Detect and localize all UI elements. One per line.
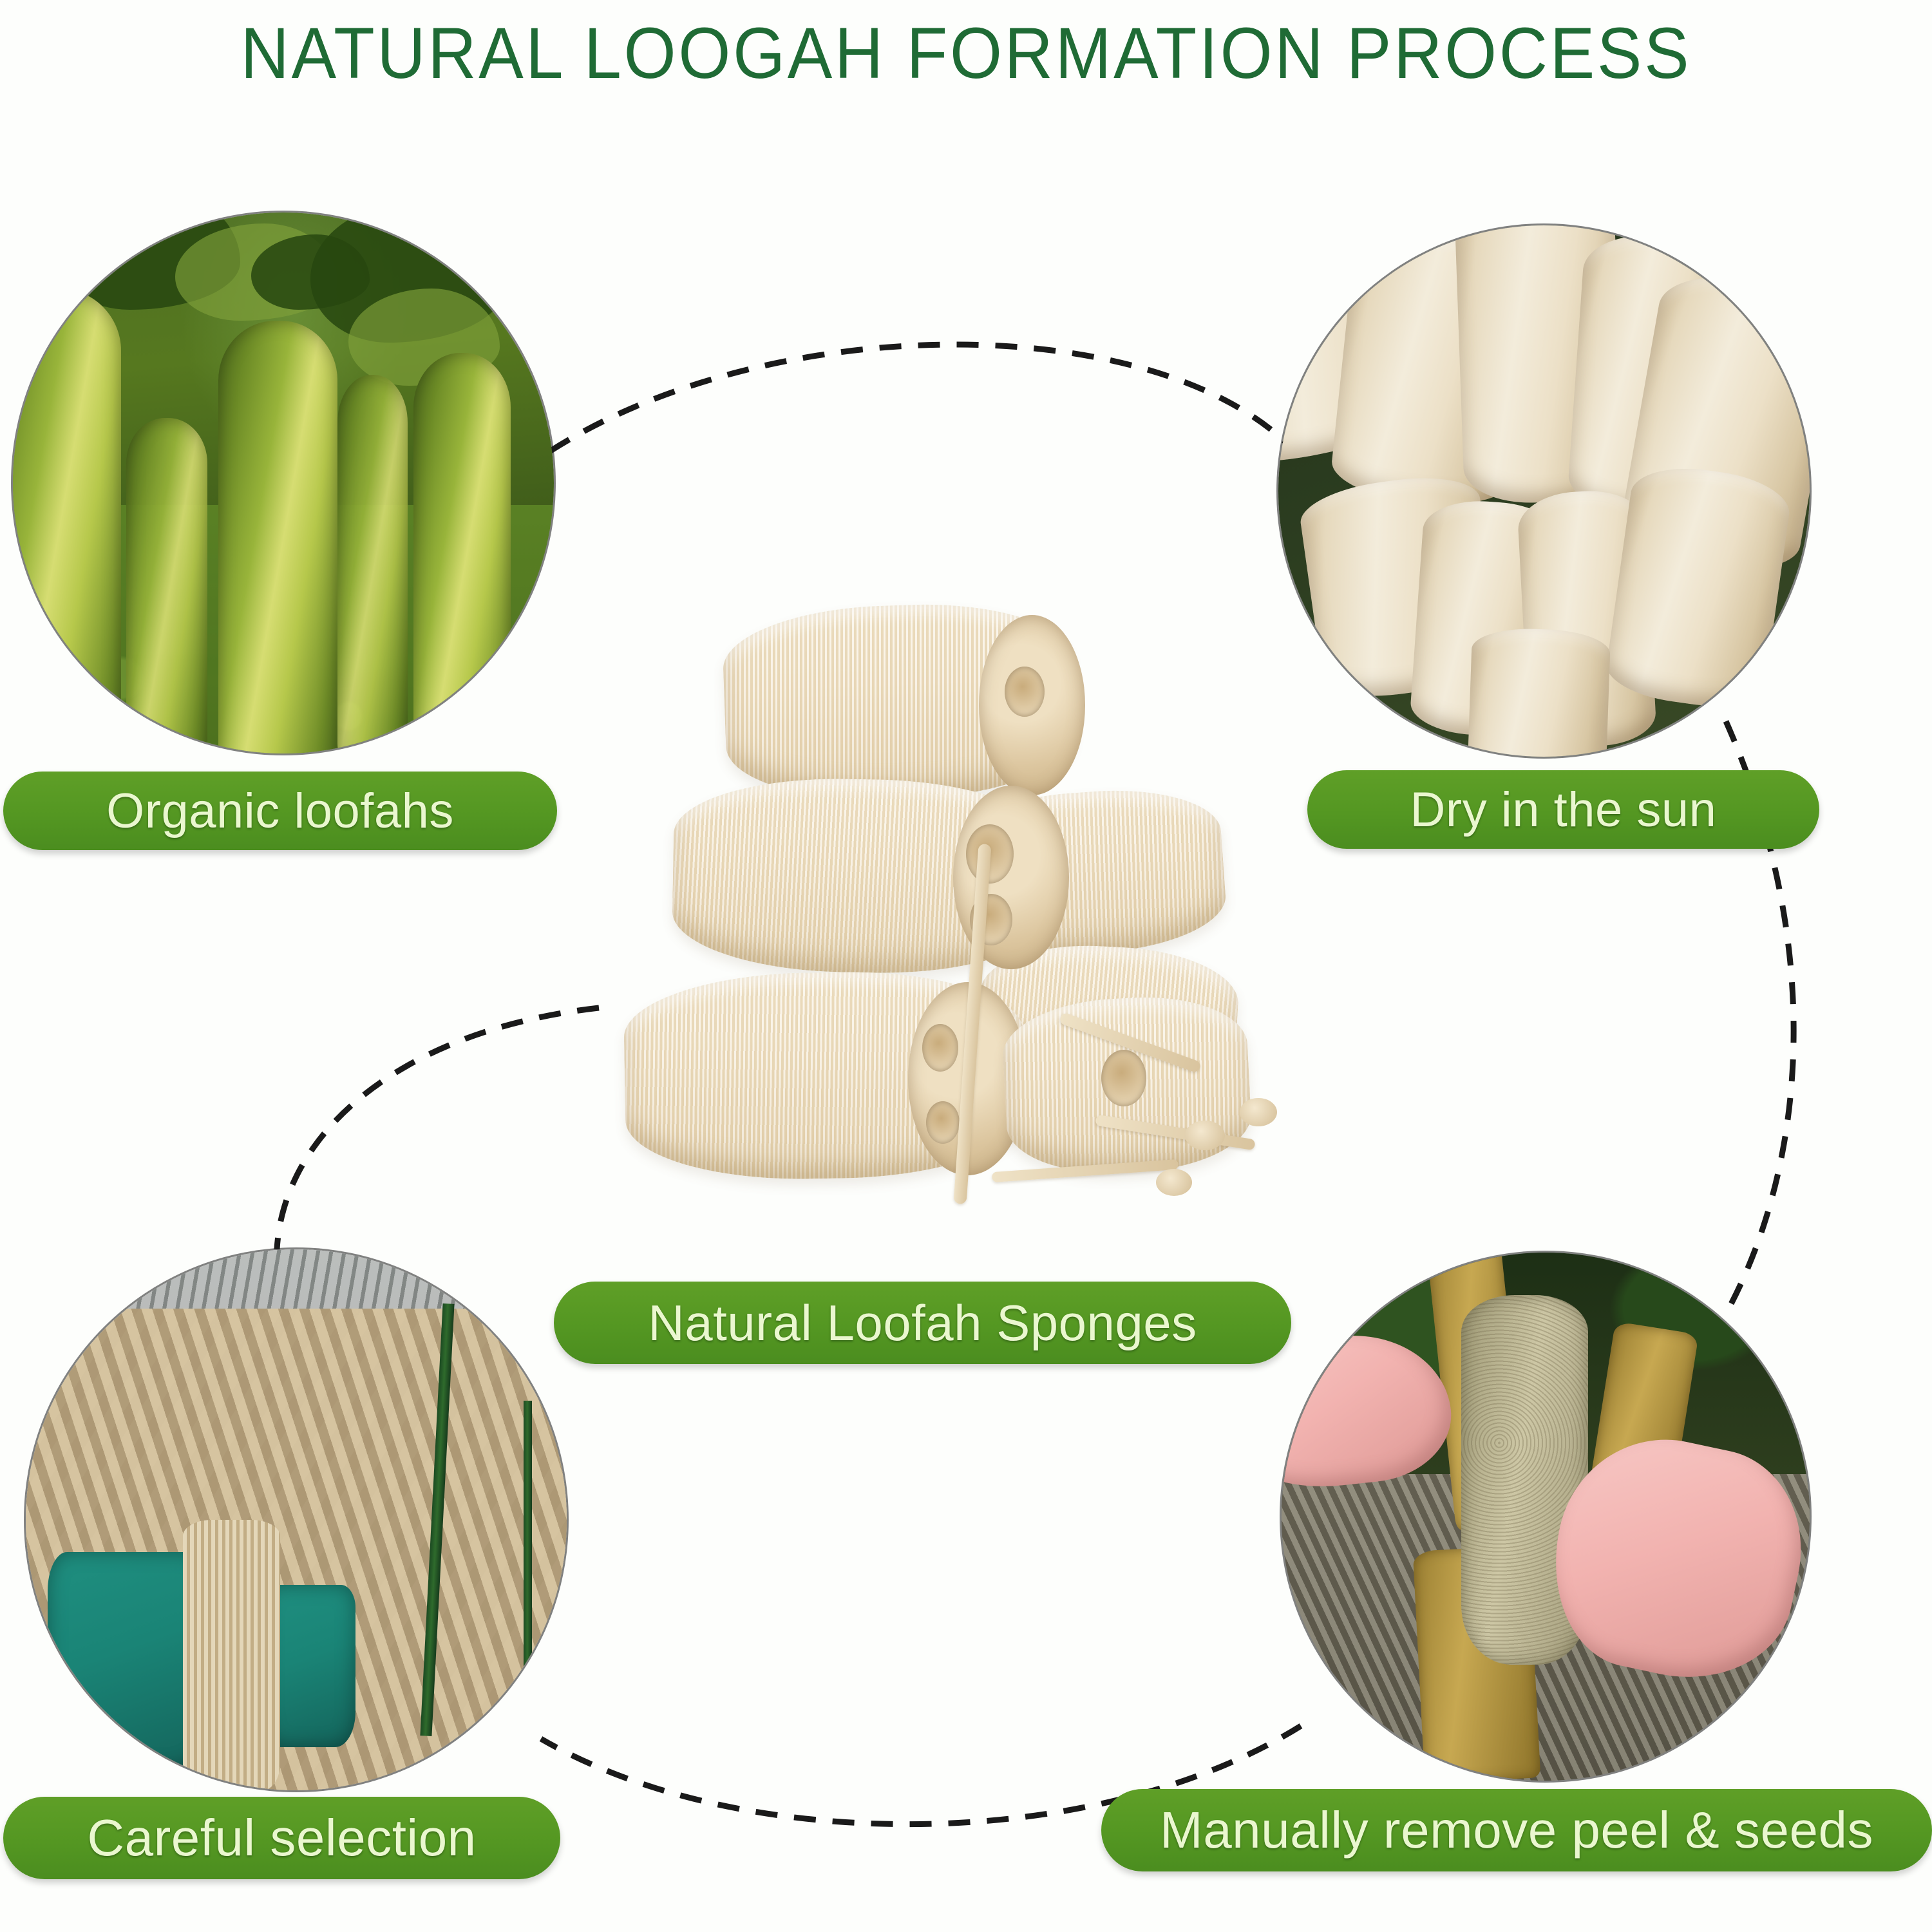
sponge-pore <box>1005 667 1045 717</box>
peeling-scene <box>1282 1253 1810 1781</box>
dried-loofah-pod <box>1603 460 1794 714</box>
loofah-gourd <box>413 353 511 753</box>
cord-knot <box>1185 1121 1225 1150</box>
hanging-fiber-bundle <box>183 1520 280 1790</box>
label-dry-in-the-sun[interactable]: Dry in the sun <box>1307 770 1819 849</box>
vine-field-scene <box>13 213 554 753</box>
connector-top <box>551 345 1294 451</box>
cord-knot <box>1156 1169 1192 1196</box>
infographic-canvas: NATURAL LOOGAH FORMATION PROCESS <box>0 0 1932 1932</box>
label-text: Natural Loofah Sponges <box>648 1294 1197 1352</box>
photo-careful-selection <box>26 1249 567 1790</box>
support-post <box>524 1401 532 1682</box>
label-text: Organic loofahs <box>106 783 454 839</box>
sponge-pore <box>926 1101 960 1144</box>
label-natural-loofah-sponges[interactable]: Natural Loofah Sponges <box>554 1282 1291 1364</box>
cord-knot <box>1240 1098 1277 1126</box>
label-careful-selection[interactable]: Careful selection <box>3 1797 560 1879</box>
photo-dry-in-the-sun <box>1278 225 1810 757</box>
warehouse-scene <box>26 1249 567 1790</box>
label-text: Careful selection <box>87 1808 476 1868</box>
sponge-pore <box>1101 1050 1146 1106</box>
label-text: Manually remove peel & seeds <box>1160 1801 1873 1860</box>
loofah-sponge-end <box>953 786 1069 969</box>
label-organic-loofahs[interactable]: Organic loofahs <box>3 772 557 850</box>
loofah-gourd <box>218 321 337 753</box>
loofah-gourd <box>126 418 207 753</box>
sponge-pore <box>922 1024 958 1072</box>
sun-drying-scene <box>1278 225 1810 757</box>
photo-organic-loofahs <box>13 213 554 753</box>
connector-left <box>277 1008 599 1249</box>
photo-remove-peel-and-seeds <box>1282 1253 1810 1781</box>
label-manually-remove-peel-and-seeds[interactable]: Manually remove peel & seeds <box>1101 1789 1932 1871</box>
label-text: Dry in the sun <box>1410 782 1717 838</box>
center-product-loofah-sponges <box>605 586 1346 1275</box>
dried-loofah-pod <box>1467 627 1611 757</box>
page-title: NATURAL LOOGAH FORMATION PROCESS <box>68 12 1864 95</box>
loofah-gourd <box>337 375 408 753</box>
loofah-gourd <box>13 289 121 753</box>
